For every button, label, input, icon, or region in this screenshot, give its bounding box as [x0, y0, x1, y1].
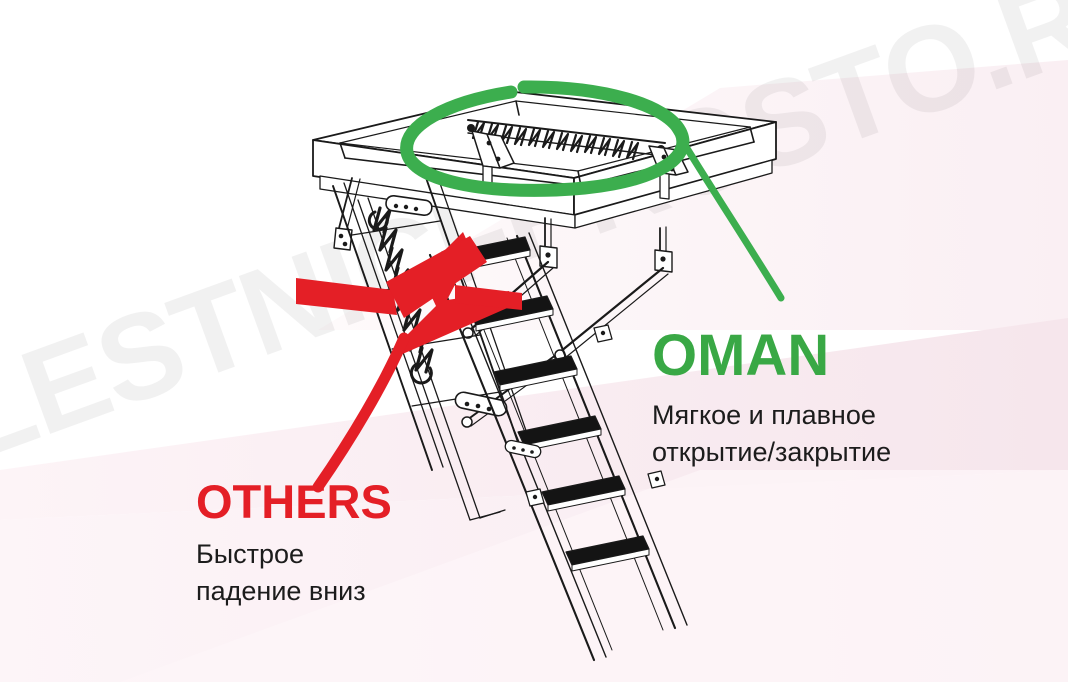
others-subtitle: Быстрое падение вниз	[196, 536, 392, 611]
callout-oman: OMAN Мягкое и плавное открытие/закрытие	[652, 327, 891, 472]
infographic-canvas: LESTNICI-PROSTO.RU	[0, 0, 1068, 682]
oman-title: OMAN	[652, 327, 891, 385]
ladder-lower-section	[430, 233, 687, 660]
oman-subtitle: Мягкое и плавное открытие/закрытие	[652, 397, 891, 472]
ladder-technical-drawing	[0, 0, 1068, 682]
oman-subtitle-line-1: Мягкое и плавное	[652, 397, 891, 434]
others-subtitle-line-1: Быстрое	[196, 536, 392, 573]
callout-others: OTHERS Быстрое падение вниз	[196, 478, 392, 611]
oman-subtitle-line-2: открытие/закрытие	[652, 434, 891, 471]
rail-brackets	[504, 325, 665, 506]
others-subtitle-line-2: падение вниз	[196, 573, 392, 610]
others-title: OTHERS	[196, 478, 392, 525]
